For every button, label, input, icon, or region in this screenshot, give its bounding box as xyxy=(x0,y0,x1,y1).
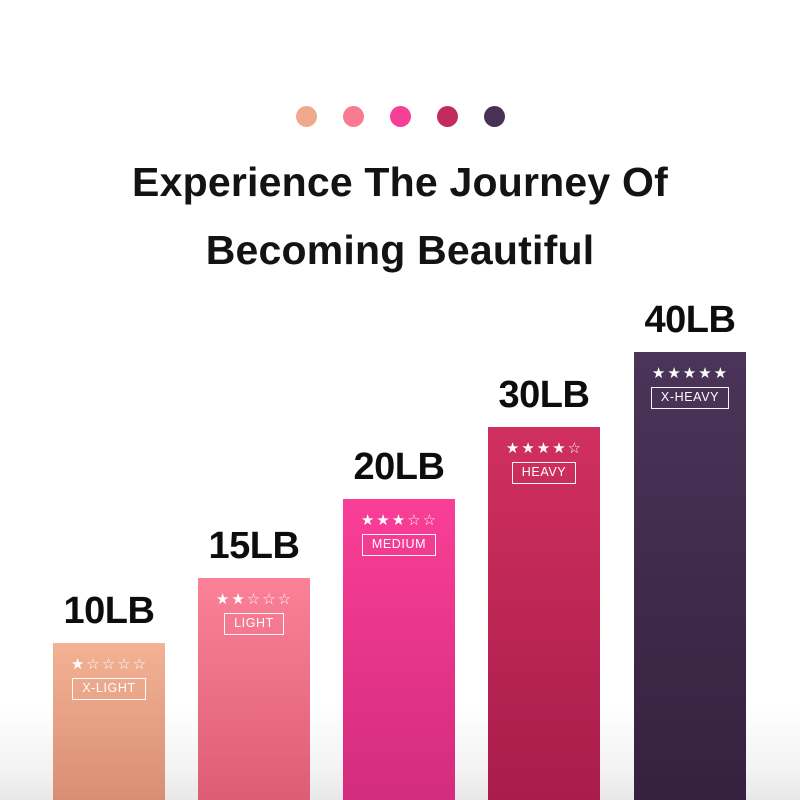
resistance-band-bar-chart: 10LB★☆☆☆☆X-LIGHT15LB★★☆☆☆LIGHT20LB★★★☆☆M… xyxy=(0,0,800,800)
bar-value-label: 10LB xyxy=(64,590,155,633)
bar-badge: ★★☆☆☆LIGHT xyxy=(198,592,310,635)
star-filled-icon: ★ xyxy=(216,592,230,607)
star-filled-icon: ★ xyxy=(71,657,85,672)
bar-group-10lb[interactable]: 10LB★☆☆☆☆X-LIGHT xyxy=(53,643,165,800)
star-empty-icon: ☆ xyxy=(278,592,292,607)
bar-fill: ★★★☆☆MEDIUM xyxy=(343,499,455,800)
star-empty-icon: ☆ xyxy=(262,592,276,607)
bar-badge: ★★★☆☆MEDIUM xyxy=(343,513,455,556)
bar-group-40lb[interactable]: 40LB★★★★★X-HEAVY xyxy=(634,352,746,800)
star-empty-icon: ☆ xyxy=(407,513,421,528)
star-filled-icon: ★ xyxy=(537,441,551,456)
star-empty-icon: ☆ xyxy=(423,513,437,528)
bar-value-label: 15LB xyxy=(209,525,300,568)
bar-fill: ★★★★☆HEAVY xyxy=(488,427,600,800)
star-filled-icon: ★ xyxy=(521,441,535,456)
star-filled-icon: ★ xyxy=(714,366,728,381)
star-rating: ★★★★☆ xyxy=(506,441,582,456)
bar-badge: ★★★★★X-HEAVY xyxy=(634,366,746,409)
star-empty-icon: ☆ xyxy=(247,592,261,607)
resistance-level-tag: MEDIUM xyxy=(362,534,436,556)
star-empty-icon: ☆ xyxy=(117,657,131,672)
star-rating: ★★★★★ xyxy=(652,366,728,381)
star-filled-icon: ★ xyxy=(552,441,566,456)
resistance-level-tag: HEAVY xyxy=(512,462,576,484)
star-filled-icon: ★ xyxy=(376,513,390,528)
resistance-level-tag: LIGHT xyxy=(224,613,284,635)
star-filled-icon: ★ xyxy=(652,366,666,381)
star-empty-icon: ☆ xyxy=(86,657,100,672)
bar-fill: ★★★★★X-HEAVY xyxy=(634,352,746,800)
bar-value-label: 30LB xyxy=(499,374,590,417)
bar-group-20lb[interactable]: 20LB★★★☆☆MEDIUM xyxy=(343,499,455,800)
bar-fill: ★☆☆☆☆X-LIGHT xyxy=(53,643,165,800)
star-filled-icon: ★ xyxy=(506,441,520,456)
star-filled-icon: ★ xyxy=(698,366,712,381)
bar-badge: ★★★★☆HEAVY xyxy=(488,441,600,484)
star-empty-icon: ☆ xyxy=(568,441,582,456)
star-filled-icon: ★ xyxy=(231,592,245,607)
star-rating: ★★☆☆☆ xyxy=(216,592,292,607)
bar-value-label: 20LB xyxy=(354,446,445,489)
star-filled-icon: ★ xyxy=(361,513,375,528)
star-empty-icon: ☆ xyxy=(102,657,116,672)
star-filled-icon: ★ xyxy=(392,513,406,528)
star-filled-icon: ★ xyxy=(667,366,681,381)
resistance-level-tag: X-HEAVY xyxy=(651,387,729,409)
star-empty-icon: ☆ xyxy=(133,657,147,672)
star-filled-icon: ★ xyxy=(683,366,697,381)
bar-group-15lb[interactable]: 15LB★★☆☆☆LIGHT xyxy=(198,578,310,800)
resistance-level-tag: X-LIGHT xyxy=(72,678,146,700)
bar-badge: ★☆☆☆☆X-LIGHT xyxy=(53,657,165,700)
infographic-canvas: Experience The Journey Of Becoming Beaut… xyxy=(0,0,800,800)
star-rating: ★☆☆☆☆ xyxy=(71,657,147,672)
star-rating: ★★★☆☆ xyxy=(361,513,437,528)
bar-fill: ★★☆☆☆LIGHT xyxy=(198,578,310,800)
bar-group-30lb[interactable]: 30LB★★★★☆HEAVY xyxy=(488,427,600,800)
bar-value-label: 40LB xyxy=(645,299,736,342)
